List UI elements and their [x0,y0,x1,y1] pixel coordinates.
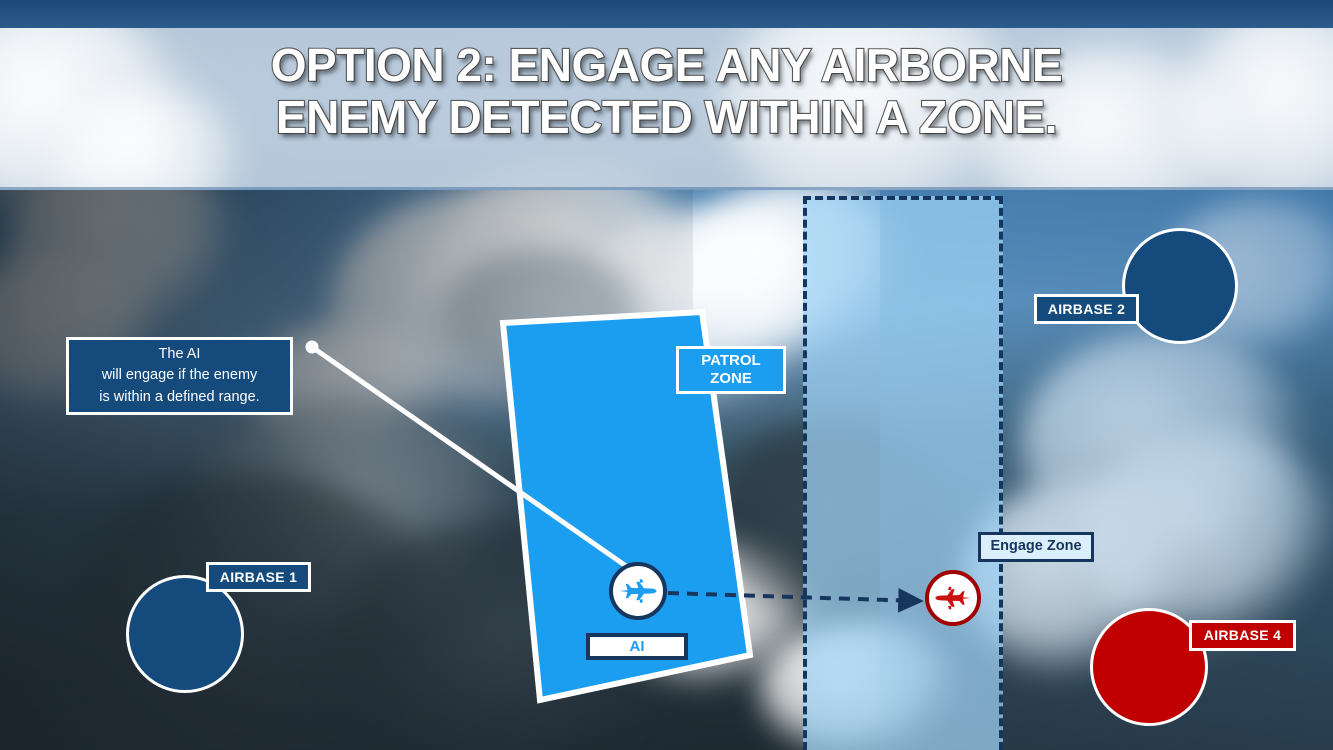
ai-behaviour-callout: The AI will engage if the enemy is withi… [66,337,293,415]
ai-aircraft-marker[interactable] [609,562,667,620]
slide-canvas: OPTION 2: ENGAGE ANY AIRBORNE ENEMY DETE… [0,0,1333,750]
ai-label: AI [586,633,688,660]
airbase-2-circle[interactable] [1122,228,1238,344]
page-title: OPTION 2: ENGAGE ANY AIRBORNE ENEMY DETE… [0,40,1333,143]
top-sky-strip [0,0,1333,28]
airbase-4-label: AIRBASE 4 [1189,620,1296,651]
engage-zone-label: Engage Zone [978,532,1094,562]
patrol-zone-label: PATROL ZONE [676,346,786,394]
airbase-1-label: AIRBASE 1 [206,562,311,592]
enemy-fighter-jet-icon [933,578,973,618]
engage-zone-area[interactable] [803,196,1003,750]
airbase-2-label: AIRBASE 2 [1034,294,1139,324]
fighter-jet-icon [617,570,659,612]
airbase-1-circle[interactable] [126,575,244,693]
enemy-aircraft-marker[interactable] [925,570,981,626]
